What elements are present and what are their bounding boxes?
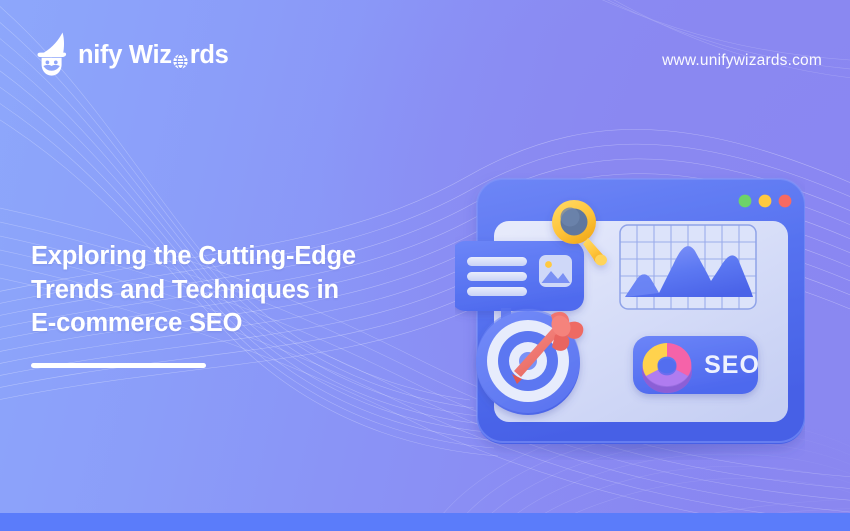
photo-icon: [539, 255, 572, 287]
logo-text-after: rds: [190, 43, 229, 69]
title-divider: [31, 363, 206, 368]
card-text-lines: [467, 257, 527, 296]
seo-badge[interactable]: SEO: [633, 336, 760, 394]
wizard-hat-icon: [26, 26, 80, 80]
logo-wordmark: nify Wiz rds: [78, 43, 229, 69]
seo-dashboard-3d-illustration: SEO: [455, 165, 805, 460]
brand-logo[interactable]: nify Wiz rds: [26, 26, 231, 80]
grid-area-chart: [620, 225, 756, 309]
window-dot-red: [779, 195, 792, 208]
headline-line-1: Exploring the Cutting-Edge: [31, 240, 451, 274]
seo-badge-label: SEO: [704, 351, 760, 379]
headline-line-3: E-commerce SEO: [31, 307, 451, 341]
window-dot-yellow: [759, 195, 772, 208]
page-title: Exploring the Cutting-Edge Trends and Te…: [31, 240, 451, 341]
window-controls[interactable]: [739, 195, 792, 208]
donut-chart-icon: [642, 343, 692, 393]
globe-icon: [172, 50, 189, 67]
logo-text-before: nify Wiz: [78, 43, 172, 69]
headline-line-2: Trends and Techniques in: [31, 274, 451, 308]
seo-promo-banner: nify Wiz rds www.unifywizards.com Explor…: [0, 0, 850, 531]
bottom-accent-bar: [0, 513, 850, 531]
window-dot-green: [739, 195, 752, 208]
website-url[interactable]: www.unifywizards.com: [662, 52, 822, 70]
